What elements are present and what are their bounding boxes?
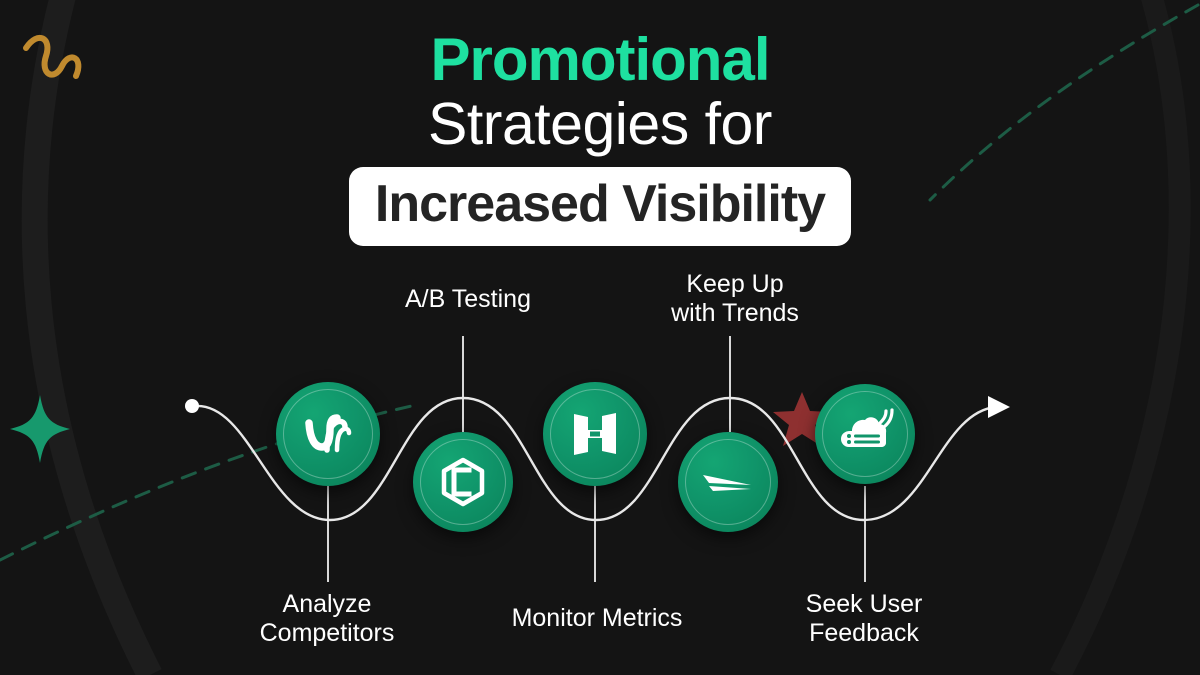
flow-arrow-head-icon	[988, 396, 1010, 418]
step-node-analyze-competitors[interactable]	[276, 382, 380, 486]
title-line-increased-visibility: Increased Visibility	[375, 177, 825, 232]
step-label-monitor-metrics: Monitor Metrics	[512, 604, 683, 633]
page-title: Promotional Strategies for Increased Vis…	[0, 28, 1200, 246]
title-badge-wrapper: Increased Visibility	[0, 167, 1200, 246]
title-line-strategies-for: Strategies for	[0, 91, 1200, 157]
step-label-analyze-competitors: Analyze Competitors	[260, 590, 395, 648]
paper-plane-icon	[699, 453, 757, 511]
hexagon-bracket-icon	[436, 455, 490, 509]
title-line-promotional: Promotional	[0, 28, 1200, 91]
step-label-ab-testing: A/B Testing	[405, 285, 531, 314]
step-label-seek-user-feedback: Seek User Feedback	[806, 590, 923, 648]
step-node-seek-user-feedback[interactable]	[815, 384, 915, 484]
step-node-ab-testing[interactable]	[413, 432, 513, 532]
step-node-keep-up-with-trends[interactable]	[678, 432, 778, 532]
angular-h-icon	[567, 406, 623, 462]
step-label-keep-up-with-trends: Keep Up with Trends	[671, 270, 799, 328]
step-node-monitor-metrics[interactable]	[543, 382, 647, 486]
flow-start-dot	[185, 399, 199, 413]
infographic-canvas: Promotional Strategies for Increased Vis…	[0, 0, 1200, 675]
cloud-signal-icon	[836, 405, 894, 463]
title-badge: Increased Visibility	[349, 167, 851, 246]
swoosh-strokes-icon	[299, 405, 357, 463]
